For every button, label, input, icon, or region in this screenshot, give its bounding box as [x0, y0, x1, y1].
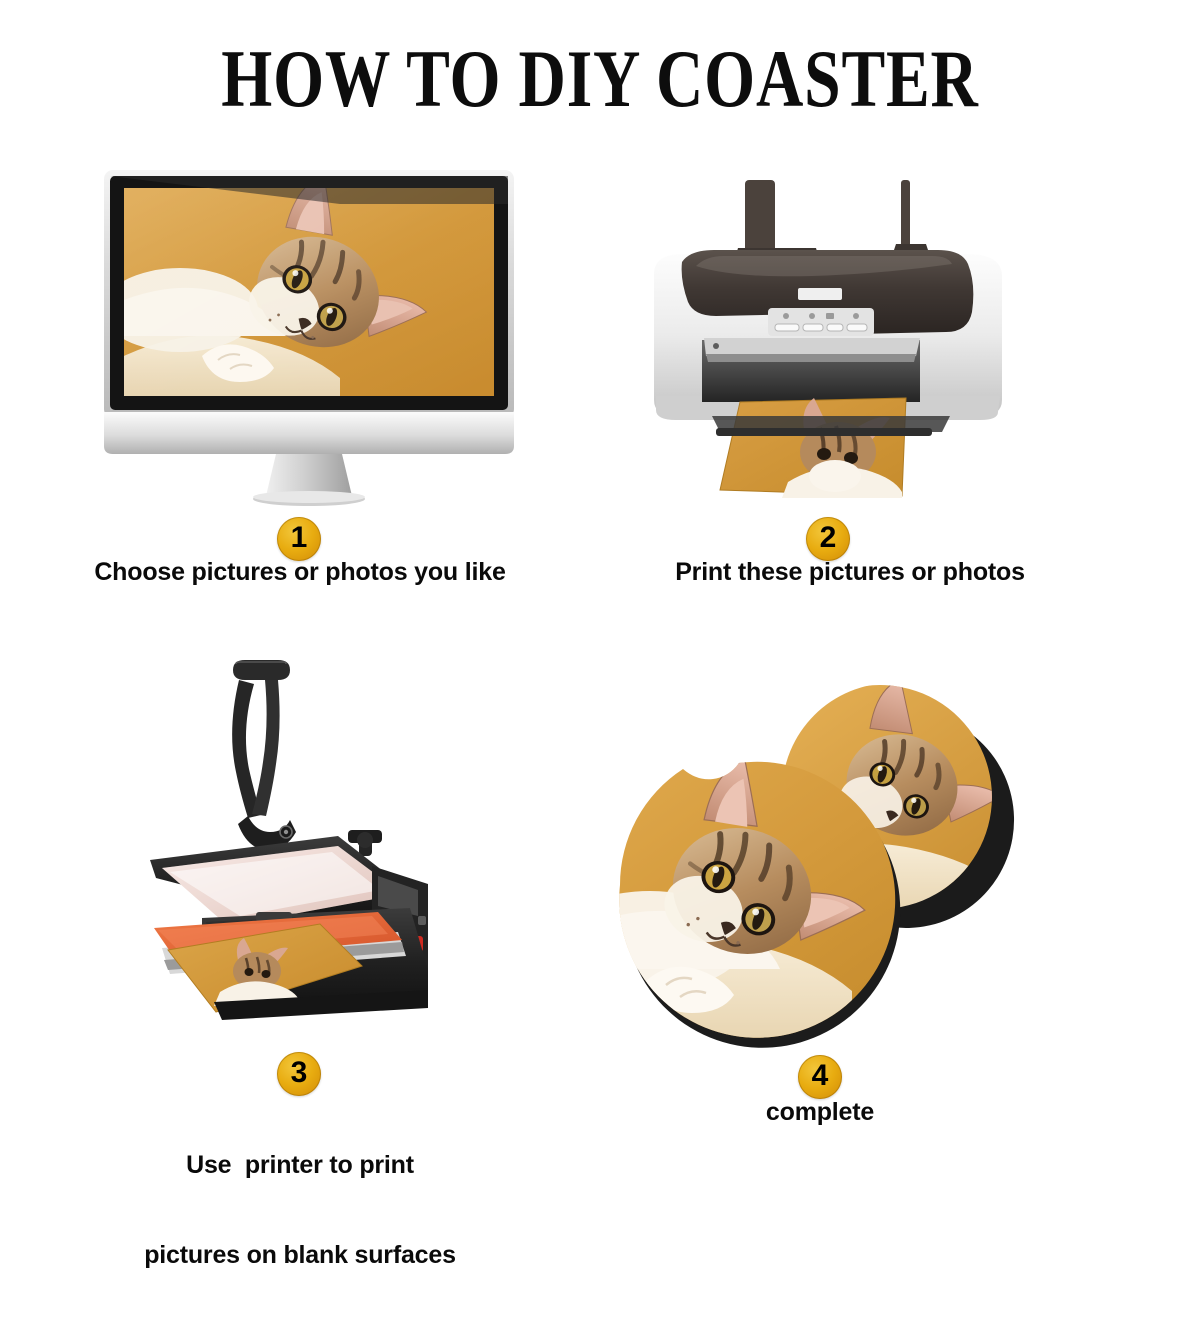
- step-1-caption: Choose pictures or photos you like: [60, 558, 540, 588]
- step-3-number: 3: [291, 1058, 308, 1088]
- printed-photo: [720, 398, 906, 498]
- step-1-number: 1: [291, 523, 308, 553]
- step-3-caption-line-2: pictures on blank surfaces: [40, 1240, 560, 1270]
- step-3-caption-line-1: Use printer to print: [40, 1150, 560, 1180]
- desktop-monitor-icon: [90, 160, 550, 510]
- step-1-illustration: [90, 160, 550, 510]
- infographic-page: HOW TO DIY COASTER: [0, 0, 1200, 1200]
- step-2-number: 2: [820, 523, 837, 553]
- step-2-badge: 2: [806, 517, 850, 561]
- page-title: HOW TO DIY COASTER: [120, 38, 1080, 120]
- step-2-caption: Print these pictures or photos: [640, 558, 1060, 588]
- step-4-number: 4: [812, 1061, 829, 1091]
- car-coasters-icon: [580, 665, 1050, 1055]
- step-2-illustration: [620, 170, 1040, 510]
- step-4-caption: complete: [660, 1098, 980, 1128]
- step-3-illustration: [110, 640, 460, 1040]
- step-3-caption: Use printer to print pictures on blank s…: [40, 1090, 560, 1330]
- heat-press-handle[interactable]: [232, 660, 296, 850]
- inkjet-printer-icon: [620, 170, 1040, 510]
- step-1-badge: 1: [277, 517, 321, 561]
- step-4-badge: 4: [798, 1055, 842, 1099]
- heat-press-icon: [110, 640, 460, 1040]
- step-4-illustration: [580, 665, 1050, 1055]
